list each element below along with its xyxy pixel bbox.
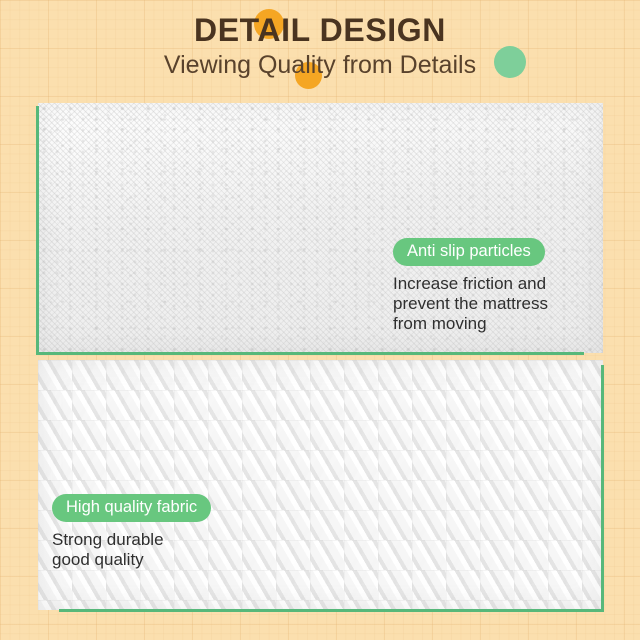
header: DETAIL DESIGN Viewing Quality from Detai… (0, 0, 640, 100)
panel-top-bottom-border (36, 352, 584, 355)
badge-high-quality-fabric: High quality fabric (52, 494, 211, 522)
panel-bottom-bottom-border (59, 609, 604, 612)
badge-anti-slip-particles: Anti slip particles (393, 238, 545, 266)
description-anti-slip: Increase friction and prevent the mattre… (393, 274, 593, 334)
callout-anti-slip: Anti slip particles Increase friction an… (393, 238, 593, 334)
panel-top-left-border (36, 106, 39, 355)
detail-design-banner: DETAIL DESIGN Viewing Quality from Detai… (0, 0, 640, 640)
panel-bottom-right-border (601, 365, 604, 612)
callout-high-quality-fabric: High quality fabric Strong durable good … (52, 494, 257, 570)
description-high-quality-fabric: Strong durable good quality (52, 530, 257, 570)
fabric-texture-chevron (38, 360, 603, 610)
product-photo-high-quality-fabric (38, 360, 603, 610)
page-subtitle: Viewing Quality from Details (0, 50, 640, 80)
page-title: DETAIL DESIGN (0, 12, 640, 48)
